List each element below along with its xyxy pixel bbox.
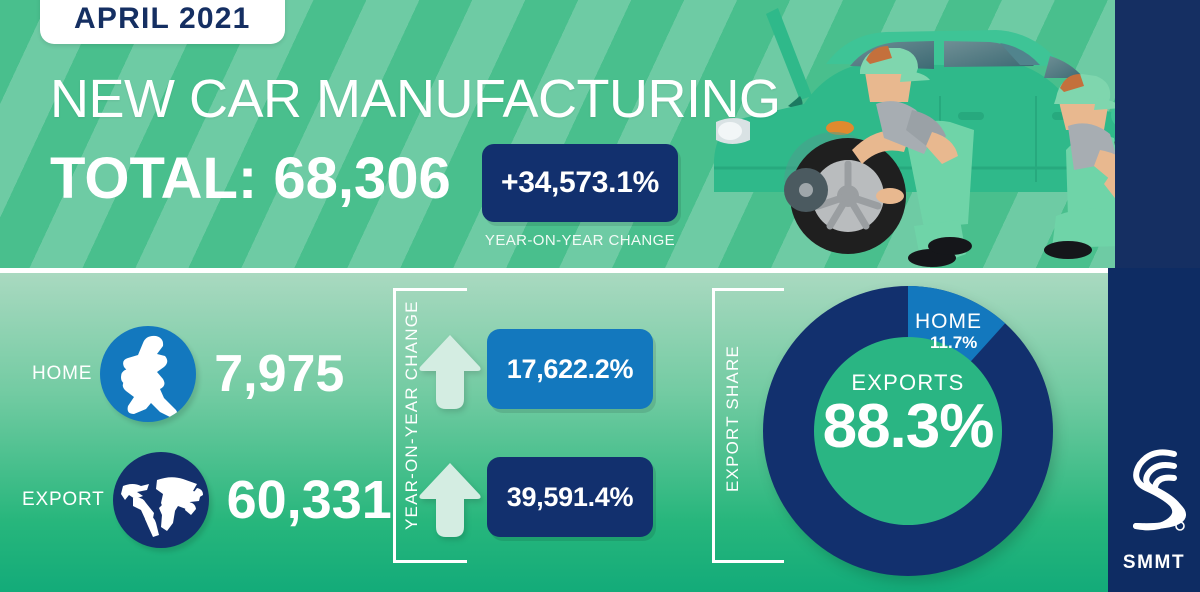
smmt-infographic: APRIL 2021 NEW CAR MANUFACTURING TOTAL: … — [0, 0, 1200, 592]
uk-map-icon — [100, 326, 196, 422]
smmt-s-logo — [1124, 442, 1186, 542]
yoy-badge-value: +34,573.1% — [501, 166, 659, 200]
yoy-value-export: 39,591.4% — [507, 482, 633, 513]
stat-label-home: HOME — [32, 363, 92, 385]
total-value: TOTAL: 68,306 — [50, 150, 451, 208]
globe-icon — [113, 452, 209, 548]
donut-segment-value-home: 11.7% — [930, 333, 977, 353]
navy-accent-panel-top — [1115, 0, 1200, 268]
donut-center-value: 88.3% — [763, 393, 1053, 461]
navy-accent-panel-bottom — [1108, 268, 1200, 592]
yoy-value-home: 17,622.2% — [507, 354, 633, 385]
month-tab: APRIL 2021 — [40, 0, 285, 44]
arrow-up-icon — [418, 333, 482, 411]
month-tab-label: APRIL 2021 — [74, 4, 251, 34]
yoy-badge: +34,573.1% — [482, 144, 678, 222]
donut-segment-label-home: HOME — [915, 310, 982, 334]
smmt-logo-text: SMMT — [1108, 552, 1200, 574]
yoy-badge-home: 17,622.2% — [487, 329, 653, 409]
stat-row-home: HOME 7,975 — [32, 326, 344, 422]
page-title: NEW CAR MANUFACTURING — [50, 72, 781, 126]
arrow-up-icon — [418, 461, 482, 539]
yoy-badge-export: 39,591.4% — [487, 457, 653, 537]
yoy-badge-caption: YEAR-ON-YEAR CHANGE — [482, 232, 678, 249]
stat-label-export: EXPORT — [22, 489, 105, 511]
stat-row-export: EXPORT 60,331 — [22, 452, 392, 548]
export-share-label: EXPORT SHARE — [723, 345, 743, 492]
stat-value-export: 60,331 — [227, 473, 392, 527]
stat-value-home: 7,975 — [214, 348, 344, 400]
